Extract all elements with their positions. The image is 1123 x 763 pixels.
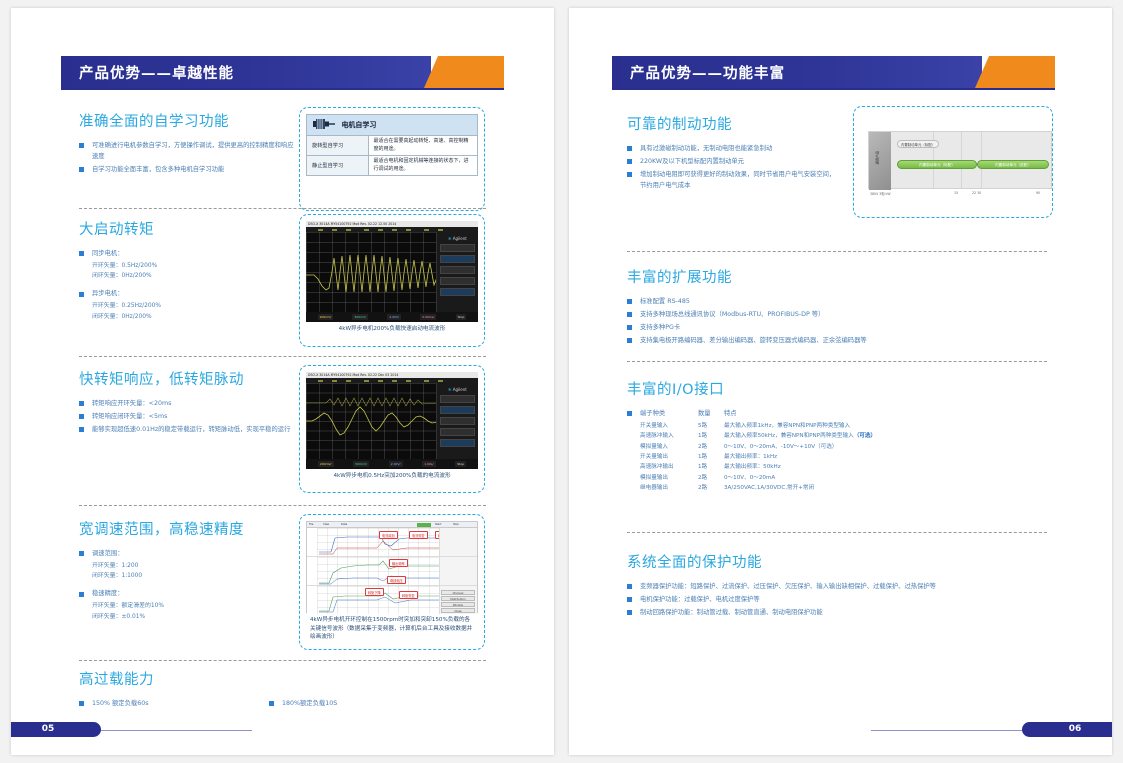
io-cell-spec: 最大输入频率1kHz，兼容NPN和PNP两种类型输入 bbox=[724, 421, 957, 431]
scope-waveform-2 bbox=[306, 383, 438, 459]
io-cell-type: 模拟量输入 bbox=[640, 442, 698, 452]
section-title: 大启动转矩 bbox=[79, 218, 284, 239]
annotation-tag: 母线电压 bbox=[387, 576, 406, 584]
figure-trace-recorder: File View Data Start Stop 电流增加 电流恢复 bbox=[299, 514, 485, 650]
figure-self-learning-table: 电机自学习 旋转型自学习 最适合在需要高起动转矩、高速、高控制精度的用途。 静止… bbox=[299, 107, 485, 211]
bullet-list: 150% 额定负载60s 180%额定负载10S bbox=[79, 698, 489, 711]
scope-side-box bbox=[440, 439, 475, 447]
figure-scope-1: DSO-X 3014A MY54100792 Mod Rev. 02.22 12… bbox=[299, 214, 485, 347]
brake-pill-top: 内置制动单元（标配） bbox=[897, 140, 939, 148]
bullet-item: 增加制动电阻即可获得更好的制动效果，同时节省用户电气安装空间，节约用户电气成本 bbox=[627, 169, 837, 191]
left-banner-orange-block bbox=[438, 56, 504, 88]
brake-chart-side: 通用产品 bbox=[869, 132, 891, 190]
oscilloscope-image-2: DSO-X 3014A MY54100792 Mod Rev. 02.22 De… bbox=[306, 372, 478, 469]
scope-side-box bbox=[440, 255, 475, 263]
section-title: 可靠的制动功能 bbox=[627, 113, 837, 134]
bullet-item: 调速范围： bbox=[79, 548, 284, 559]
section-speed-range: 宽调速范围，高稳速精度 调速范围： 开环矢量：1:200 闭环矢量：1:1000… bbox=[79, 518, 284, 622]
io-header-row: 端子种类数量特点 bbox=[627, 408, 957, 419]
divider bbox=[79, 356, 486, 357]
bullet-list: 调速范围： 开环矢量：1:200 闭环矢量：1:1000 稳速精度： 开环矢量：… bbox=[79, 548, 284, 622]
table-head-label: 电机自学习 bbox=[341, 121, 376, 129]
scope-side-box bbox=[440, 266, 475, 274]
scope-side-box bbox=[440, 277, 475, 285]
page-left: 产品优势——卓越性能 准确全面的自学习功能 可准确进行电机参数自学习，方便操作调… bbox=[11, 8, 554, 755]
scope-side-box bbox=[440, 395, 475, 403]
scope-side-box bbox=[440, 428, 475, 436]
io-row: 高速脉冲输入 1路 最大输入频率50kHz，兼容NPN和PNP两种类型输入（可选… bbox=[627, 431, 957, 441]
scope-sidebar: ✻ Agilent bbox=[436, 232, 478, 312]
trace-legend-panel bbox=[439, 557, 477, 585]
divider bbox=[79, 208, 486, 209]
bullet-list: 转矩响应开环矢量：<20ms 转矩响应闭环矢量：<5ms 能够实现超低速0.01… bbox=[79, 398, 291, 435]
bullet-list: 同步电机： 开环矢量：0.5Hz/200% 闭环矢量：0Hz/200% 异步电机… bbox=[79, 248, 284, 322]
trace-button[interactable]: Window bbox=[441, 602, 475, 607]
divider bbox=[79, 660, 486, 661]
figure-scope-2: DSO-X 3014A MY54100792 Mod Rev. 02.22 De… bbox=[299, 365, 485, 493]
right-banner-slash bbox=[975, 56, 989, 88]
io-col-header: 特点 bbox=[724, 410, 737, 417]
annotation-tag: 电流恢复 bbox=[409, 531, 428, 539]
page-number-left: 05 bbox=[11, 722, 101, 737]
scope-readout: 5.00ms/ bbox=[420, 314, 436, 320]
io-col-header: 数量 bbox=[698, 408, 724, 419]
io-cell-type: 继电器输出 bbox=[640, 483, 698, 493]
bullet-item: 变频器保护功能：短路保护、过流保护、过压保护、欠压保护、输入输出缺相保护、过载保… bbox=[627, 581, 1047, 592]
io-cell-type: 开关量输入 bbox=[640, 421, 698, 431]
brochure-spread: 产品优势——卓越性能 准确全面的自学习功能 可准确进行电机参数自学习，方便操作调… bbox=[0, 0, 1123, 763]
left-banner-title: 产品优势——卓越性能 bbox=[79, 62, 234, 83]
right-banner-underline bbox=[612, 88, 1055, 90]
annotation-tag: 转矩恢复 bbox=[399, 591, 418, 599]
section-self-learning: 准确全面的自学习功能 可准确进行电机参数自学习，方便操作调试，提供更高的控制精度… bbox=[79, 110, 294, 177]
io-row: 高速脉冲输出 1路 最大输出频率：50kHz bbox=[627, 462, 957, 472]
scope-side-box bbox=[440, 288, 475, 296]
left-banner-slash bbox=[424, 56, 438, 88]
io-cell-qty: 1路 bbox=[698, 452, 724, 462]
scope-readout: 2.00V/ bbox=[389, 461, 403, 467]
section-title: 高过载能力 bbox=[79, 668, 489, 689]
page-tab-right: 06 bbox=[1022, 722, 1112, 737]
section-title: 快转矩响应，低转矩脉动 bbox=[79, 368, 291, 389]
bullet-item: 支持集电极开路编码器、差分输出编码器、旋转变压器式编码器、正余弦编码器等 bbox=[627, 335, 927, 346]
io-col-header: 端子种类 bbox=[640, 408, 698, 419]
table-head-cell: 电机自学习 bbox=[307, 115, 478, 136]
section-title: 宽调速范围，高稳速精度 bbox=[79, 518, 284, 539]
bullet-item: 同步电机： bbox=[79, 248, 284, 259]
sub-item: 开环矢量：0.5Hz/200% bbox=[79, 261, 284, 271]
io-row: 模拟量输入 2路 0～10V、0～20mA、-10V～+10V（可选） bbox=[627, 442, 957, 452]
io-cell-spec: 0～10V、0～20mA bbox=[724, 473, 957, 483]
divider bbox=[627, 532, 1047, 533]
trace-panel-3: 转矩下降 转矩恢复 Channel Distribution Window Cl… bbox=[307, 586, 477, 614]
sub-item: 开环矢量：0.25Hz/200% bbox=[79, 301, 284, 311]
page-tab-left: 05 bbox=[11, 722, 101, 737]
bullet-item: 150% 额定负载60s bbox=[79, 698, 209, 709]
io-cell-qty: 2路 bbox=[698, 473, 724, 483]
left-banner-underline bbox=[61, 88, 504, 90]
io-cell-type: 高速脉冲输出 bbox=[640, 462, 698, 472]
io-row: 开关量输出 1路 最大输出频率：1kHz bbox=[627, 452, 957, 462]
scope-brand: ✻ Agilent bbox=[437, 383, 478, 392]
io-row: 继电器输出 2路 3A/250VAC,1A/30VDC,常开+常闭 bbox=[627, 483, 957, 493]
left-banner-bar: 产品优势——卓越性能 bbox=[61, 56, 431, 88]
io-cell-type: 高速脉冲输入 bbox=[640, 431, 698, 441]
sub-item: 开环矢量：额定滑差的10% bbox=[79, 601, 284, 611]
scope-readout: 200mV/ bbox=[318, 461, 334, 467]
right-banner-title: 产品优势——功能丰富 bbox=[630, 62, 785, 83]
sub-item: 开环矢量：1:200 bbox=[79, 561, 284, 571]
sub-item: 闭环矢量：0Hz/200% bbox=[79, 271, 284, 281]
scope-side-box bbox=[440, 244, 475, 252]
brake-axis-tick: 15 bbox=[954, 191, 958, 195]
annotation-tag: 电流增加 bbox=[379, 531, 398, 539]
bullet-item: 支持多种PG卡 bbox=[627, 322, 927, 333]
section-title: 丰富的I/O接口 bbox=[627, 378, 957, 399]
bullet-item: 220KW及以下机型标配内置制动单元 bbox=[627, 156, 837, 167]
page-number-right: 06 bbox=[1022, 722, 1112, 737]
scope-readout: 200mV/ bbox=[318, 314, 334, 320]
io-row: 模拟量输出 2路 0～10V、0～20mA bbox=[627, 473, 957, 483]
brake-chart-body: 通用产品 内置制动单元（标配） 内置制动单元（标配） 内置制动单元（选配） bbox=[868, 131, 1052, 189]
io-cell-spec: 3A/250VAC,1A/30VDC,常开+常闭 bbox=[724, 483, 957, 493]
section-protection: 系统全面的保护功能 变频器保护功能：短路保护、过流保护、过压保护、欠压保护、输入… bbox=[627, 551, 1047, 620]
brake-axis: 380V 3相 kW 15 22 30 90 bbox=[868, 191, 1052, 199]
sub-item: 闭环矢量：0Hz/200% bbox=[79, 312, 284, 322]
bullet-item: 标准配置 RS-485 bbox=[627, 296, 927, 307]
bullet-item: 可准确进行电机参数自学习，方便操作调试，提供更高的控制精度和响应速度 bbox=[79, 140, 294, 162]
figure-brake-diagram: 通用产品 内置制动单元（标配） 内置制动单元（标配） 内置制动单元（选配） 38… bbox=[853, 106, 1053, 218]
io-row: 开关量输入 5路 最大输入频率1kHz，兼容NPN和PNP两种类型输入 bbox=[627, 421, 957, 431]
scope-readout-bar: 200mV/ 500mV/ 2.00V/ 1.00s/ Stop bbox=[306, 459, 478, 469]
scope-readout: 500mV/ bbox=[353, 461, 369, 467]
section-title: 系统全面的保护功能 bbox=[627, 551, 1047, 572]
io-cell-spec: 最大输出频率：1kHz bbox=[724, 452, 957, 462]
figure-caption: 4kW异步电机200%负载快速启动电流波形 bbox=[306, 325, 478, 334]
bullet-item: 电机保护功能：过载保护、电机过度保护等 bbox=[627, 594, 1047, 605]
scope-side-box bbox=[440, 417, 475, 425]
section-expansion: 丰富的扩展功能 标准配置 RS-485 支持多种现场总线通讯协议（Modbus-… bbox=[627, 266, 927, 348]
bullet-list: 变频器保护功能：短路保护、过流保护、过压保护、欠压保护、输入输出缺相保护、过载保… bbox=[627, 581, 1047, 618]
section-torque-response: 快转矩响应，低转矩脉动 转矩响应开环矢量：<20ms 转矩响应闭环矢量：<5ms… bbox=[79, 368, 291, 437]
bullet-item: 转矩响应开环矢量：<20ms bbox=[79, 398, 291, 409]
divider bbox=[627, 361, 1047, 362]
section-title: 准确全面的自学习功能 bbox=[79, 110, 294, 131]
io-cell-type: 开关量输出 bbox=[640, 452, 698, 462]
sub-item: 闭环矢量：±0.01% bbox=[79, 612, 284, 622]
bullet-list: 具有过激磁制动功能，无制动电阻也能紧急制动 220KW及以下机型标配内置制动单元… bbox=[627, 143, 837, 191]
section-braking: 可靠的制动功能 具有过激磁制动功能，无制动电阻也能紧急制动 220KW及以下机型… bbox=[627, 113, 837, 193]
brake-pill-standard: 内置制动单元（标配） bbox=[897, 160, 977, 169]
left-banner: 产品优势——卓越性能 bbox=[61, 56, 504, 88]
table-row: 静止型自学习 最适合电机和固定机械等连接的状态下，进行调试的用途。 bbox=[307, 156, 478, 176]
io-cell-qty: 5路 bbox=[698, 421, 724, 431]
scope-readout-bar: 200mV/ 500mV/ 2.00V/ 5.00ms/ Stop bbox=[306, 312, 478, 322]
scope-readout: 1.00s/ bbox=[422, 461, 435, 467]
bullet-item: 支持多种现场总线通讯协议（Modbus-RTU、PROFIBUS-DP 等） bbox=[627, 309, 927, 320]
brake-pill-optional: 内置制动单元（选配） bbox=[977, 160, 1049, 169]
table-cell-key: 静止型自学习 bbox=[307, 156, 369, 176]
section-io: 丰富的I/O接口 端子种类数量特点 开关量输入 5路 最大输入频率1kHz，兼容… bbox=[627, 378, 957, 493]
figure-caption: 4kW异步电机开环控制在1500rpm时突加和突卸150%负载的各关键信号波形（… bbox=[306, 616, 478, 642]
bullet-item: 转矩响应闭环矢量：<5ms bbox=[79, 411, 291, 422]
scope-waveform-1 bbox=[306, 232, 438, 312]
table-cell-value: 最适合电机和固定机械等连接的状态下，进行调试的用途。 bbox=[368, 156, 477, 176]
bullet-item: 制动回路保护功能：制动管过载、制动管直通、制动电阻保护功能 bbox=[627, 607, 1047, 618]
io-table: 端子种类数量特点 开关量输入 5路 最大输入频率1kHz，兼容NPN和PNP两种… bbox=[627, 408, 957, 493]
brake-axis-title: 380V 3相 kW bbox=[870, 191, 891, 196]
trace-panel-2: 输出频率 母线电压 bbox=[307, 557, 477, 586]
io-cell-qty: 2路 bbox=[698, 483, 724, 493]
table-cell-value: 最适合在需要高起动转矩、高速、高控制精度的用途。 bbox=[368, 136, 477, 156]
trace-button-panel: Channel Distribution Window Close bbox=[439, 586, 477, 614]
io-cell-qty: 1路 bbox=[698, 431, 724, 441]
trace-button[interactable]: Channel bbox=[441, 590, 475, 595]
io-cell-note: （可选） bbox=[854, 433, 876, 439]
agilent-logo-icon: ✻ bbox=[448, 236, 451, 241]
scope-readout: 2.00V/ bbox=[387, 314, 401, 320]
table-cell-key: 旋转型自学习 bbox=[307, 136, 369, 156]
scope-display: ✻ Agilent bbox=[306, 232, 478, 312]
oscilloscope-image-1: DSO-X 3014A MY54100792 Mod Rev. 02.22 12… bbox=[306, 221, 478, 322]
scope-readout: Stop bbox=[455, 461, 466, 467]
scope-readout: Stop bbox=[456, 314, 467, 320]
motor-icon bbox=[313, 118, 335, 132]
io-cell-spec: 0～10V、0～20mA、-10V～+10V（可选） bbox=[724, 442, 957, 452]
scope-brand: ✻ Agilent bbox=[437, 232, 478, 241]
io-cell-type: 模拟量输出 bbox=[640, 473, 698, 483]
self-learning-table: 电机自学习 旋转型自学习 最适合在需要高起动转矩、高速、高控制精度的用途。 静止… bbox=[306, 114, 478, 176]
divider bbox=[627, 251, 1047, 252]
table-head-row: 电机自学习 bbox=[307, 115, 478, 136]
io-cell-spec: 最大输入频率50kHz，兼容NPN和PNP两种类型输入（可选） bbox=[724, 431, 957, 441]
bullet-item: 异步电机： bbox=[79, 288, 284, 299]
bullet-list: 标准配置 RS-485 支持多种现场总线通讯协议（Modbus-RTU、PROF… bbox=[627, 296, 927, 346]
section-title: 丰富的扩展功能 bbox=[627, 266, 927, 287]
section-starting-torque: 大启动转矩 同步电机： 开环矢量：0.5Hz/200% 闭环矢量：0Hz/200… bbox=[79, 218, 284, 322]
bullet-item: 具有过激磁制动功能，无制动电阻也能紧急制动 bbox=[627, 143, 837, 154]
io-cell-qty: 2路 bbox=[698, 442, 724, 452]
trace-button[interactable]: Distribution bbox=[441, 596, 475, 601]
right-banner-orange-block bbox=[989, 56, 1055, 88]
scope-display: ✻ Agilent bbox=[306, 383, 478, 459]
bullet-item: 稳速精度： bbox=[79, 588, 284, 599]
io-cell-spec: 最大输出频率：50kHz bbox=[724, 462, 957, 472]
brake-axis-label-top: 通用产品 bbox=[875, 137, 880, 165]
bullet-item: 180%额定负载10S bbox=[269, 698, 399, 709]
figure-caption: 4kW异步电机0.5Hz突加200%负载的电流波形 bbox=[306, 472, 478, 481]
bullet-item: 自学习功能全面丰富，包含多种电机自学习功能 bbox=[79, 164, 294, 175]
scope-readout: 500mV/ bbox=[352, 314, 368, 320]
annotation-tag: 转矩下降 bbox=[365, 588, 384, 596]
trace-panel-1: 电流增加 电流恢复 转速回落及恢复 bbox=[307, 528, 477, 557]
brake-axis-tick: 22 30 bbox=[972, 191, 981, 195]
section-overload: 高过载能力 150% 额定负载60s 180%额定负载10S bbox=[79, 668, 489, 711]
sub-item: 闭环矢量：1:1000 bbox=[79, 571, 284, 581]
divider bbox=[79, 505, 486, 506]
trace-legend-panel bbox=[439, 528, 477, 556]
brake-chart: 通用产品 内置制动单元（标配） 内置制动单元（标配） 内置制动单元（选配） 38… bbox=[860, 113, 1046, 211]
io-cell-qty: 1路 bbox=[698, 462, 724, 472]
trace-button[interactable]: Close bbox=[441, 608, 475, 613]
annotation-tag: 输出频率 bbox=[389, 559, 408, 567]
page-right: 产品优势——功能丰富 可靠的制动功能 具有过激磁制动功能，无制动电阻也能紧急制动… bbox=[569, 8, 1112, 755]
right-banner: 产品优势——功能丰富 bbox=[612, 56, 1055, 88]
bullet-list: 可准确进行电机参数自学习，方便操作调试，提供更高的控制精度和响应速度 自学习功能… bbox=[79, 140, 294, 175]
bullet-item: 能够实现超低速0.01Hz的稳定带载运行，转矩脉动低，实现平稳的运行 bbox=[79, 424, 291, 435]
scope-side-box bbox=[440, 406, 475, 414]
scope-sidebar: ✻ Agilent bbox=[436, 383, 478, 459]
agilent-logo-icon: ✻ bbox=[448, 387, 451, 392]
brake-axis-tick: 90 bbox=[1036, 191, 1040, 195]
trace-chart-image: File View Data Start Stop 电流增加 电流恢复 bbox=[306, 521, 478, 613]
right-banner-bar: 产品优势——功能丰富 bbox=[612, 56, 982, 88]
table-row: 旋转型自学习 最适合在需要高起动转矩、高速、高控制精度的用途。 bbox=[307, 136, 478, 156]
